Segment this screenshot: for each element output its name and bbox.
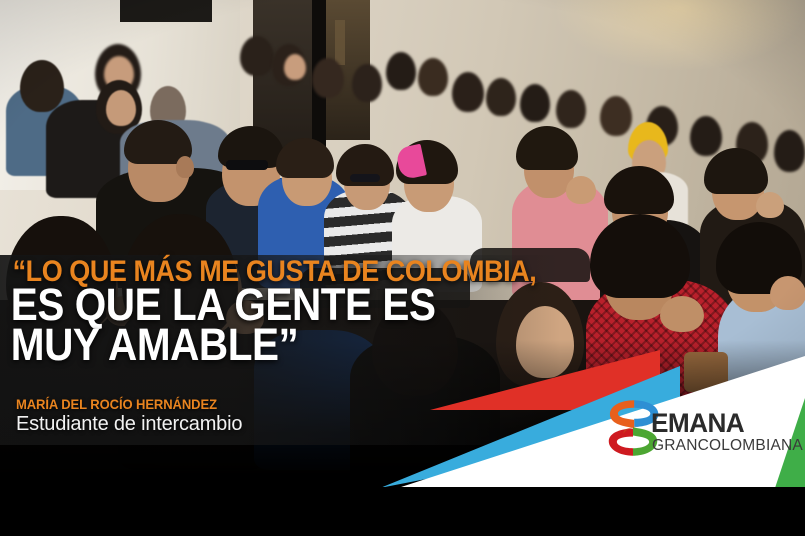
semana-grancolombiana-logo: EMANA GRANCOLOMBIANA: [604, 396, 799, 466]
bottom-black-bar: [0, 487, 805, 536]
logo-main-text: EMANA: [651, 410, 798, 437]
logo-sub-text: GRANCOLOMBIANA: [652, 438, 803, 454]
logo-wordmark: EMANA GRANCOLOMBIANA: [651, 410, 803, 454]
promo-card: “LO QUE MÁS ME GUSTA DE COLOMBIA, ES QUE…: [0, 0, 805, 536]
